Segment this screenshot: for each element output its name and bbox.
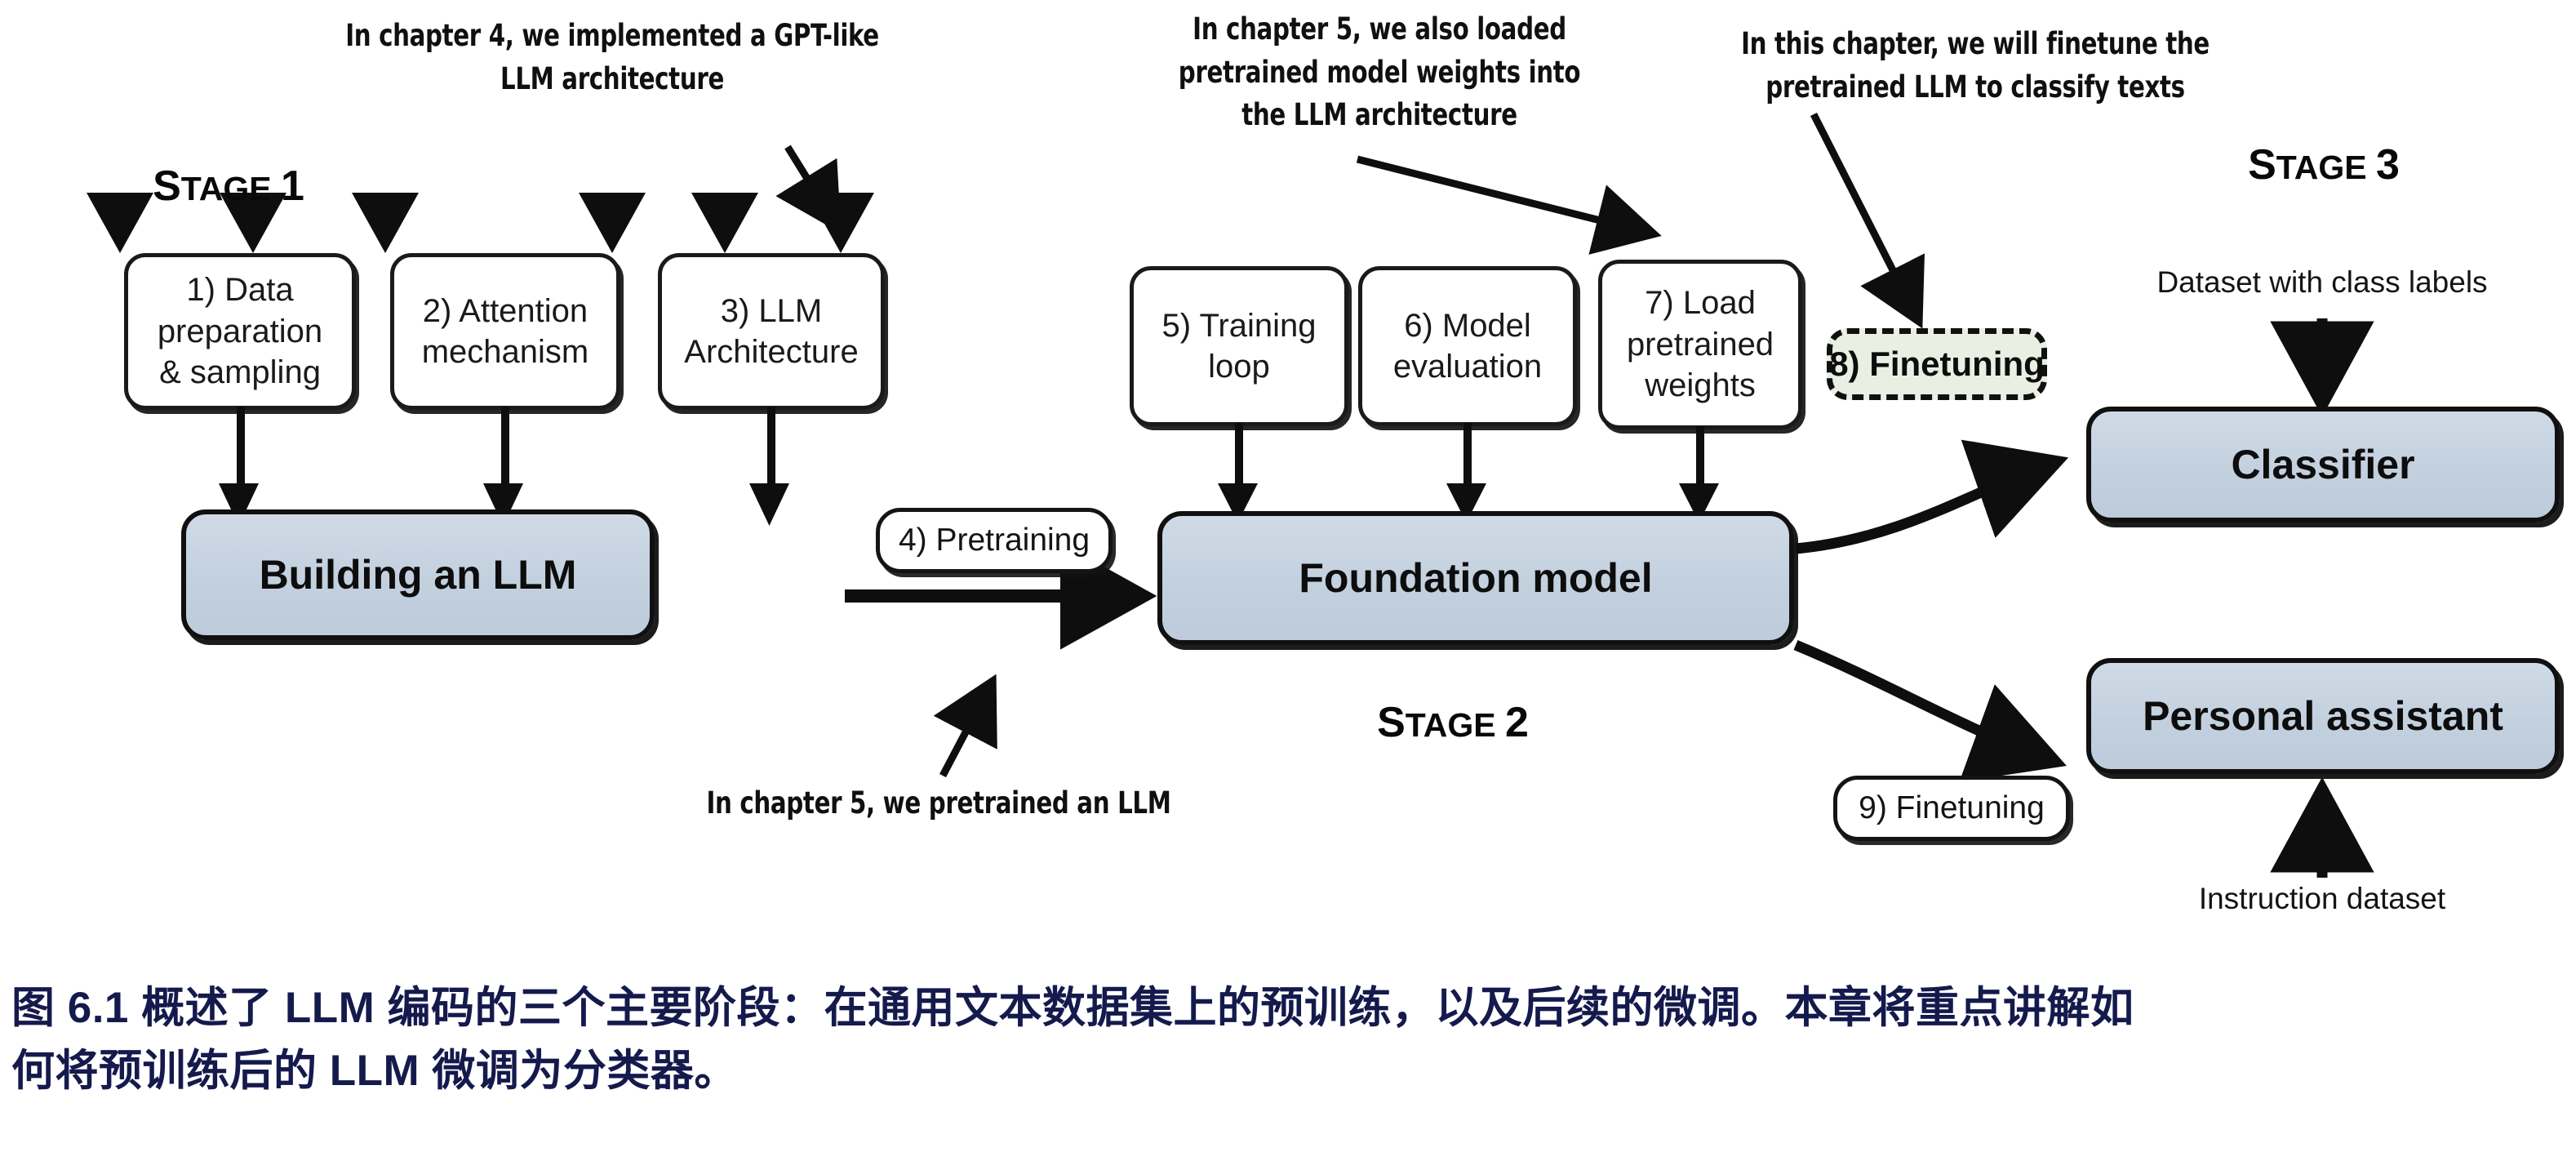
outcome-box-foundation-model[interactable]: Foundation model xyxy=(1157,511,1794,645)
label-instruction-dataset: Instruction dataset xyxy=(2110,882,2534,916)
label-dataset-with-class-labels: Dataset with class labels xyxy=(2077,265,2567,300)
figure-caption: 图 6.1 概述了 LLM 编码的三个主要阶段：在通用文本数据集上的预训练，以及… xyxy=(11,976,2558,1103)
figure-caption-line-1: 图 6.1 概述了 LLM 编码的三个主要阶段：在通用文本数据集上的预训练，以及… xyxy=(11,976,2558,1039)
pill-finetuning-8[interactable]: 8) Finetuning xyxy=(1827,328,2047,400)
pill-finetuning-9[interactable]: 9) Finetuning xyxy=(1833,776,2070,841)
outcome-box-personal-assistant[interactable]: Personal assistant xyxy=(2086,658,2560,774)
outcome-box-classifier[interactable]: Classifier xyxy=(2086,407,2560,523)
outcome-box-building-an-llm[interactable]: Building an LLM xyxy=(181,509,655,640)
figure-caption-line-2: 何将预训练后的 LLM 微调为分类器。 xyxy=(11,1039,2558,1102)
figure-canvas: STAGE 1 STAGE 2 STAGE 3 In chapter 4, we… xyxy=(0,0,2576,1161)
pill-pretraining[interactable]: 4) Pretraining xyxy=(876,508,1113,573)
